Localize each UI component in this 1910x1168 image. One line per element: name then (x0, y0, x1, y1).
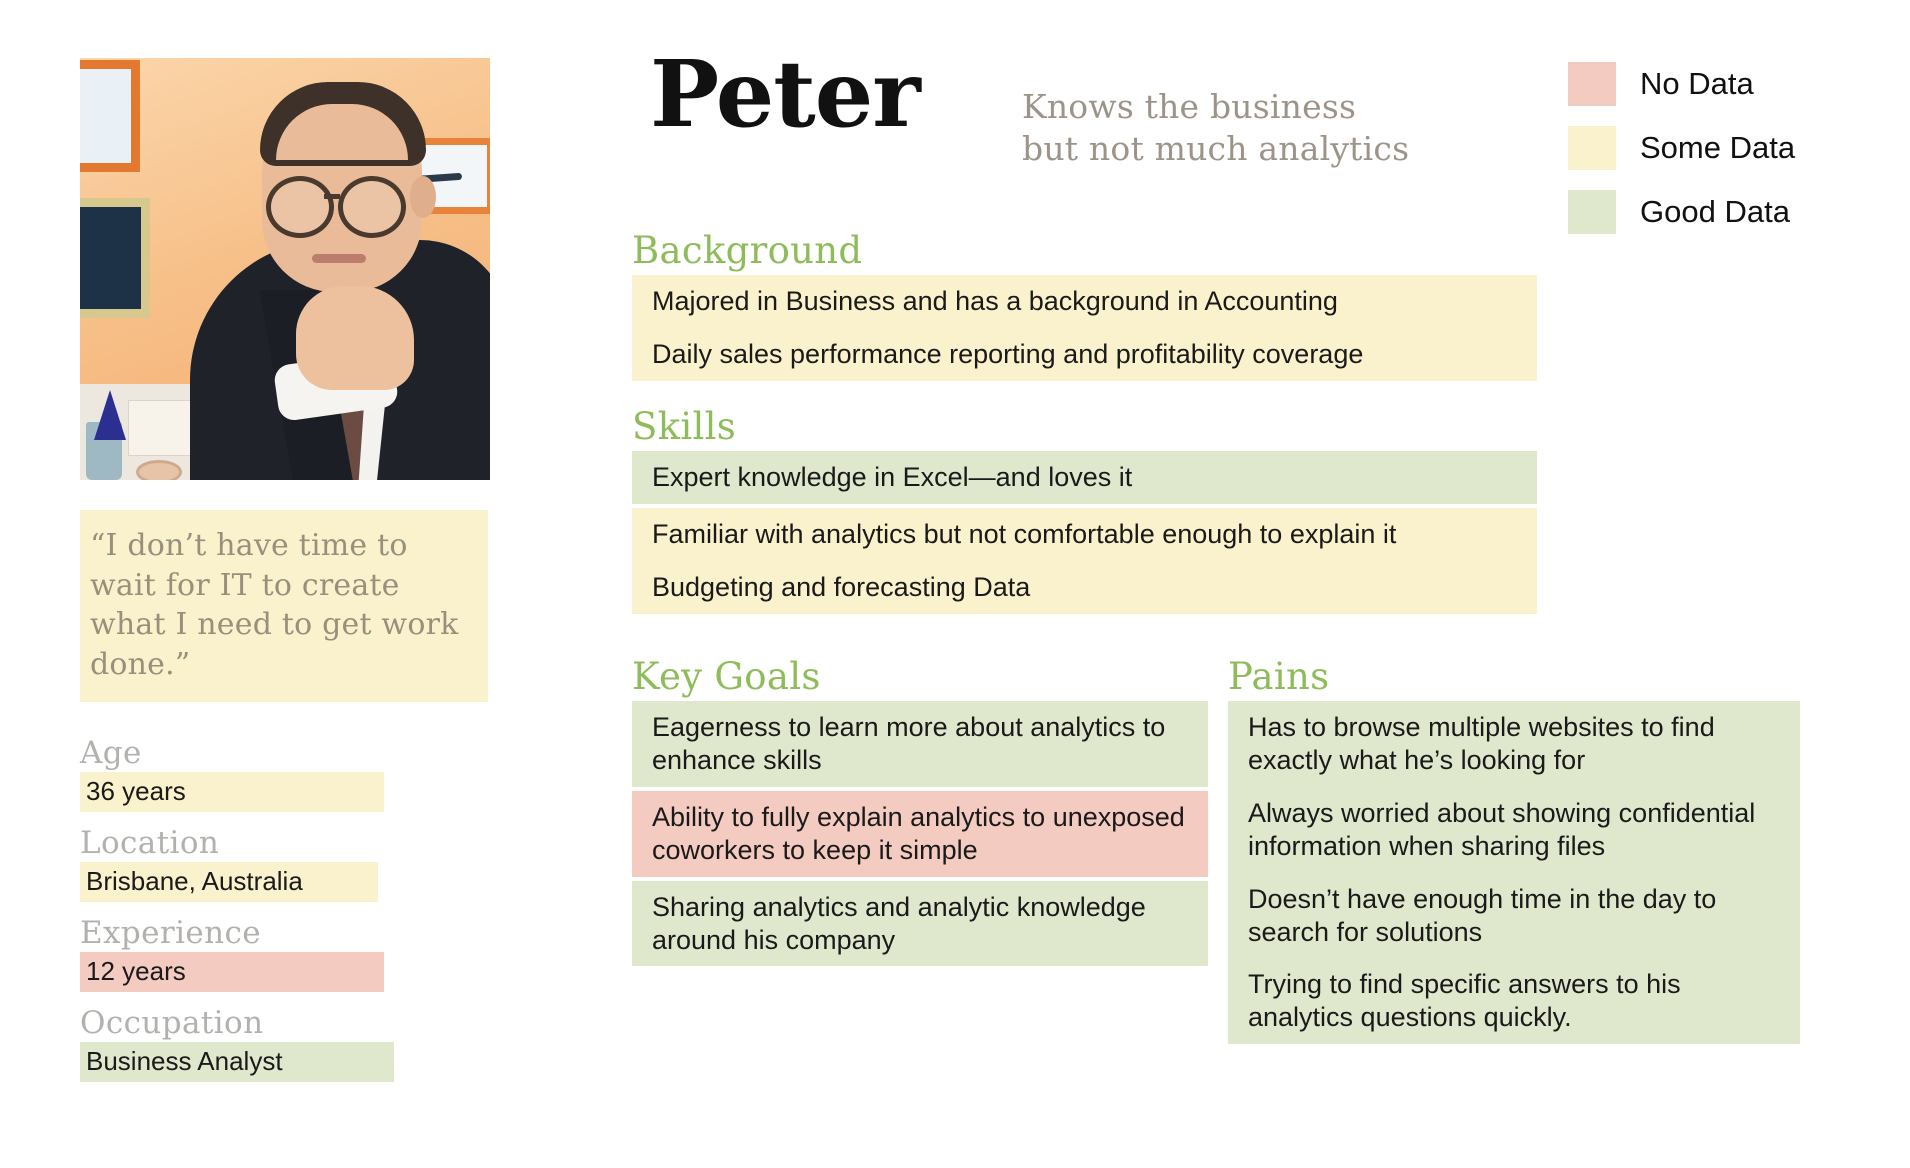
key-goals-item: Sharing analytics and analytic knowledge… (632, 881, 1208, 967)
persona-tagline-line2: but not much analytics (1022, 128, 1409, 170)
demographic-label-age: Age (80, 736, 600, 771)
demographic-label-location: Location (80, 826, 600, 861)
persona-tagline: Knows the business but not much analytic… (1022, 86, 1409, 169)
photo-eyeglass-left (266, 176, 334, 238)
demographic-row-experience: Experience 12 years (80, 916, 600, 992)
photo-ear (410, 176, 436, 218)
demographics-list: Age 36 years Location Brisbane, Australi… (80, 736, 600, 1082)
demographic-label-experience: Experience (80, 916, 600, 951)
background-items-block: Majored in Business and has a background… (632, 275, 1537, 381)
demographic-value-experience: 12 years (80, 952, 384, 992)
photo-pen (94, 390, 126, 440)
section-pains: Pains Has to browse multiple websites to… (1228, 658, 1800, 1044)
section-background: Background Majored in Business and has a… (632, 232, 1537, 381)
left-column: “I don’t have time to wait for IT to cre… (80, 58, 600, 1096)
key-goals-item: Ability to fully explain analytics to un… (632, 791, 1208, 877)
photo-desk-dish (136, 460, 182, 480)
pains-item: Always worried about showing confidentia… (1228, 787, 1800, 873)
skills-item-block-some: Familiar with analytics but not comforta… (632, 508, 1537, 614)
photo-desk-card (128, 400, 194, 456)
background-item: Majored in Business and has a background… (632, 275, 1537, 328)
pains-item: Has to browse multiple websites to find … (1228, 701, 1800, 787)
demographic-row-occupation: Occupation Business Analyst (80, 1006, 600, 1082)
skills-item: Expert knowledge in Excel—and loves it (632, 451, 1537, 504)
key-goals-item-block-no: Ability to fully explain analytics to un… (632, 791, 1208, 877)
photo-eyeglass-right (338, 176, 406, 238)
section-heading-key-goals: Key Goals (632, 658, 1208, 697)
photo-mouth (312, 254, 366, 263)
pains-items-block: Has to browse multiple websites to find … (1228, 701, 1800, 1045)
section-key-goals: Key Goals Eagerness to learn more about … (632, 658, 1208, 966)
section-skills: Skills Expert knowledge in Excel—and lov… (632, 408, 1537, 614)
legend-label-no-data: No Data (1640, 66, 1754, 102)
photo-framed-picture-top-left (80, 60, 140, 172)
legend-item-no-data: No Data (1568, 62, 1795, 106)
demographic-value-occupation: Business Analyst (80, 1042, 394, 1082)
legend-swatch-some-data (1568, 126, 1616, 170)
pains-item: Doesn’t have enough time in the day to s… (1228, 873, 1800, 959)
legend-swatch-good-data (1568, 190, 1616, 234)
section-heading-skills: Skills (632, 408, 1537, 447)
pains-item: Trying to find specific answers to his a… (1228, 958, 1800, 1044)
demographic-label-occupation: Occupation (80, 1006, 600, 1041)
persona-photo (80, 58, 490, 480)
skills-item: Familiar with analytics but not comforta… (632, 508, 1537, 561)
key-goals-item-block-good-2: Sharing analytics and analytic knowledge… (632, 881, 1208, 967)
skills-item-block-good: Expert knowledge in Excel—and loves it (632, 451, 1537, 504)
key-goals-item: Eagerness to learn more about analytics … (632, 701, 1208, 787)
legend-label-good-data: Good Data (1640, 194, 1790, 230)
legend: No Data Some Data Good Data (1568, 62, 1795, 254)
legend-item-good-data: Good Data (1568, 190, 1795, 234)
legend-label-some-data: Some Data (1640, 130, 1795, 166)
legend-swatch-no-data (1568, 62, 1616, 106)
photo-framed-picture-left (80, 198, 150, 318)
demographic-row-age: Age 36 years (80, 736, 600, 812)
legend-item-some-data: Some Data (1568, 126, 1795, 170)
skills-item: Budgeting and forecasting Data (632, 561, 1537, 614)
section-heading-background: Background (632, 232, 1537, 271)
demographic-value-location: Brisbane, Australia (80, 862, 378, 902)
page-title: Peter (650, 48, 920, 140)
section-heading-pains: Pains (1228, 658, 1800, 697)
photo-eyeglass-bridge (324, 194, 340, 199)
demographic-value-age: 36 years (80, 772, 384, 812)
persona-tagline-line1: Knows the business (1022, 86, 1409, 128)
demographic-row-location: Location Brisbane, Australia (80, 826, 600, 902)
key-goals-item-block-good-1: Eagerness to learn more about analytics … (632, 701, 1208, 787)
photo-hand (296, 286, 414, 390)
persona-quote: “I don’t have time to wait for IT to cre… (80, 510, 488, 702)
background-item: Daily sales performance reporting and pr… (632, 328, 1537, 381)
